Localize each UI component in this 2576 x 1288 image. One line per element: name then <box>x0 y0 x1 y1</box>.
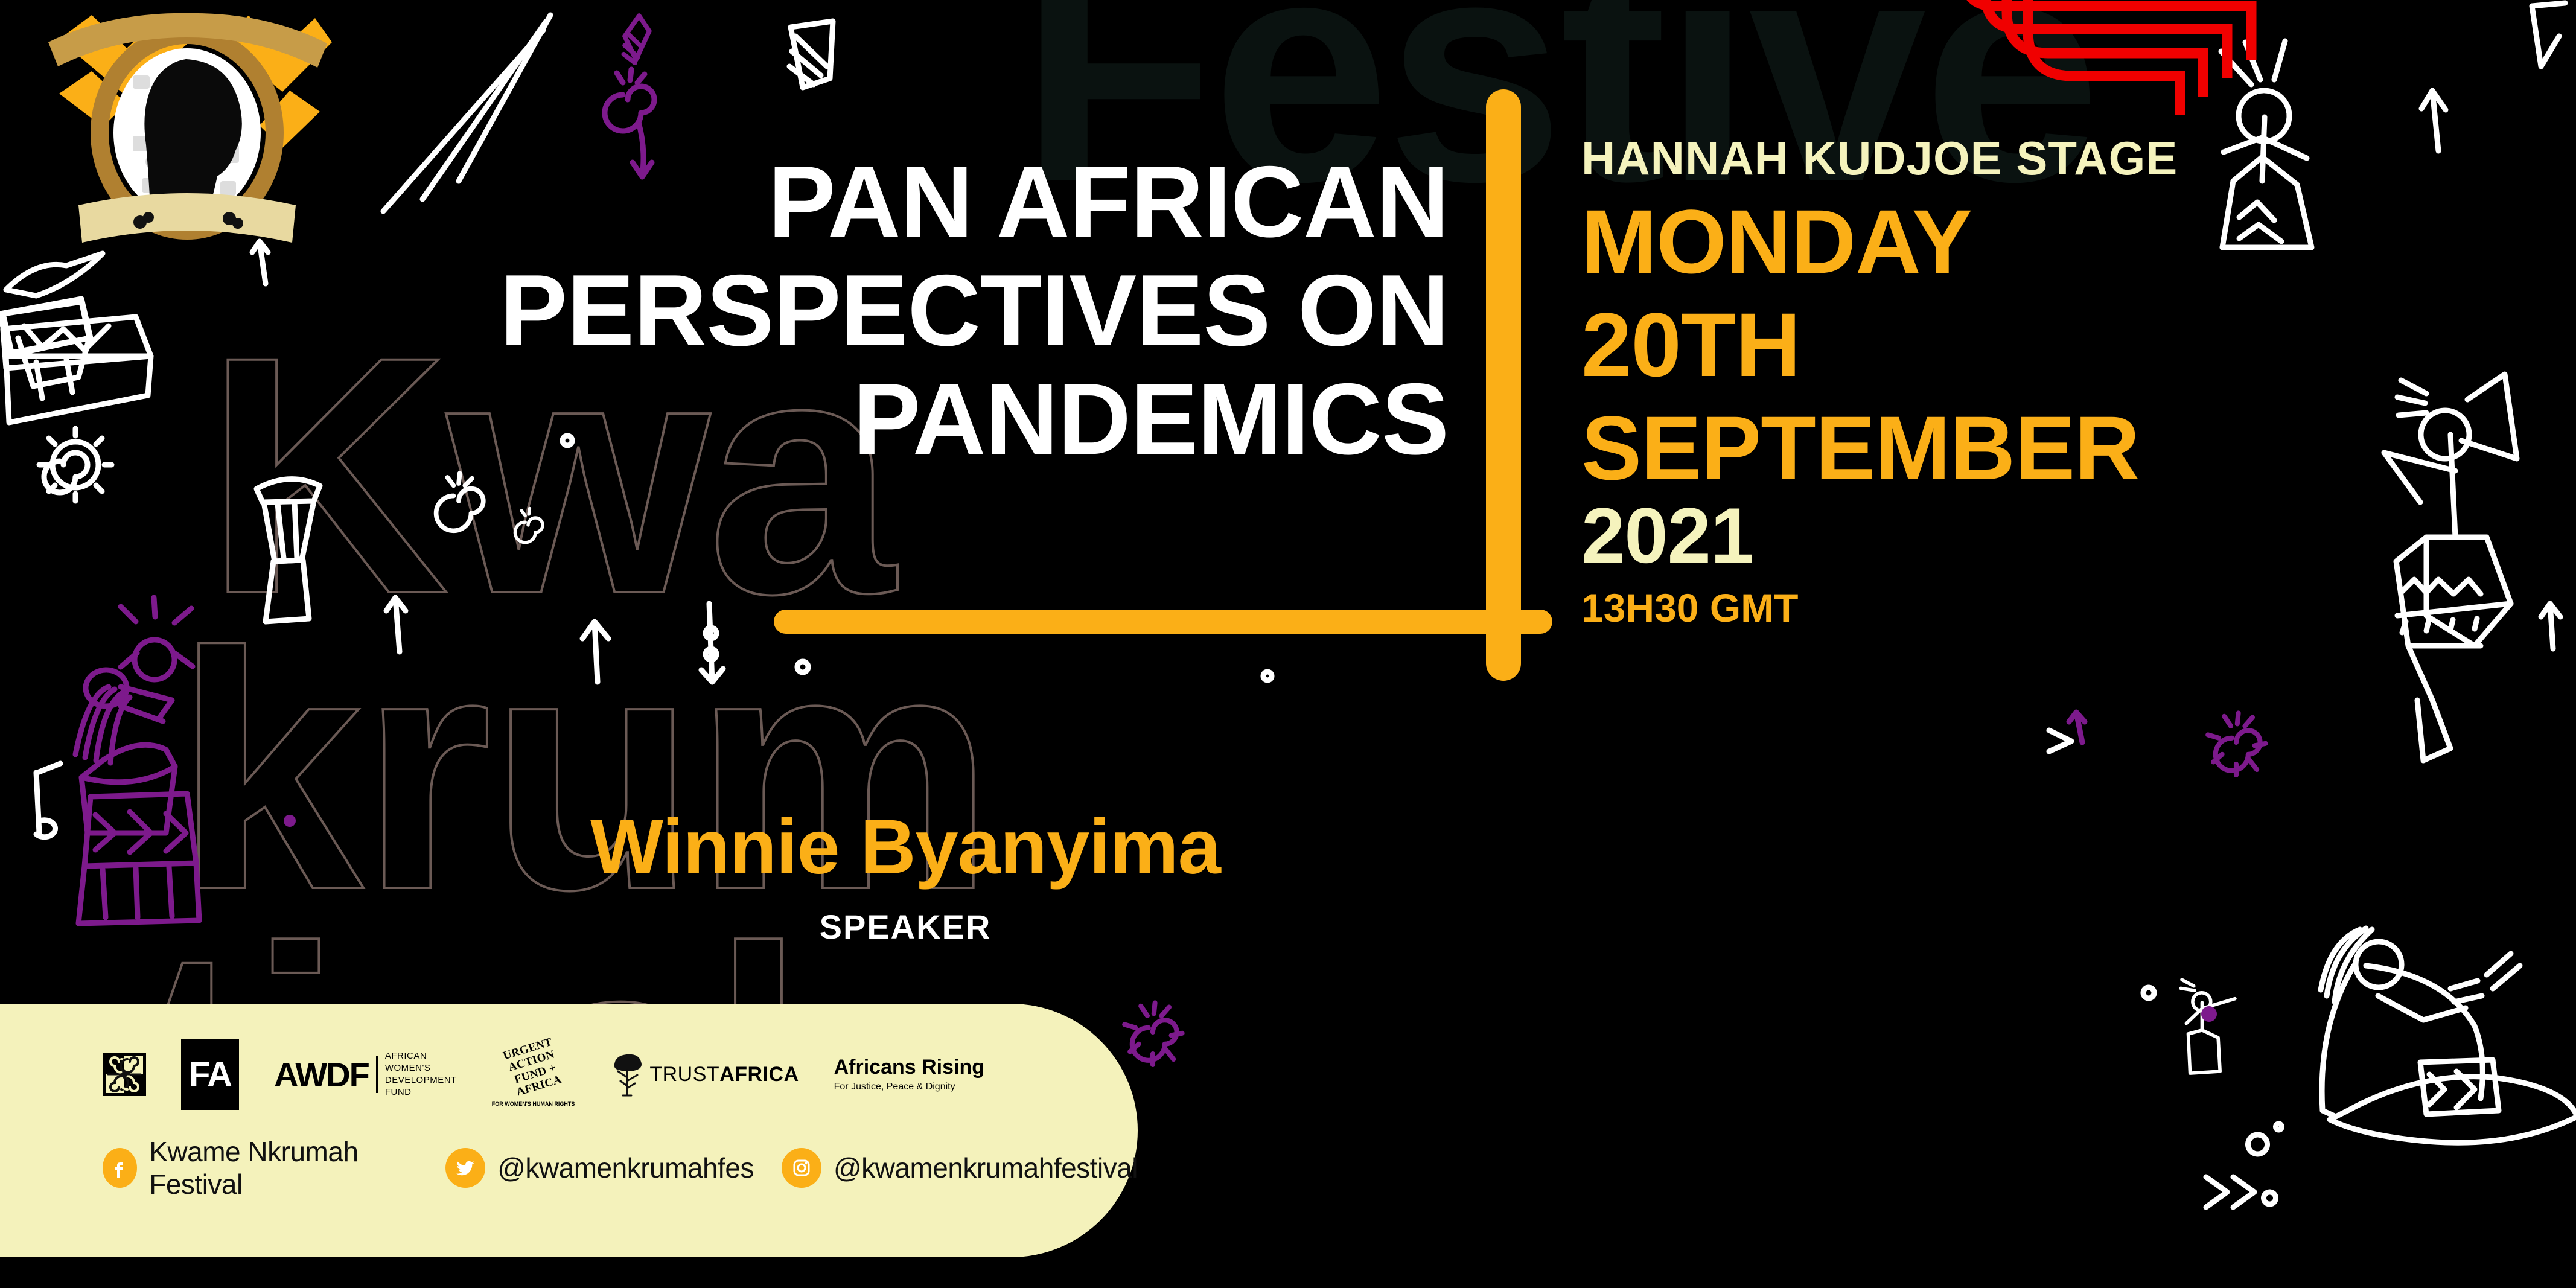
festival-crest-logo <box>36 6 338 260</box>
social-instagram[interactable]: @kwamenkrumahfestival <box>782 1148 1138 1188</box>
twitter-icon[interactable] <box>445 1148 485 1188</box>
sponsor-africans-rising: Africans Rising For Justice, Peace & Dig… <box>834 1041 984 1108</box>
title-line-1: PAN AFRICAN <box>386 148 1449 257</box>
awdf-divider <box>376 1056 378 1093</box>
footer-bar: FA AWDF AFRICAN WOMEN'S DEVELOPMENT FUND… <box>0 1004 1138 1257</box>
instagram-handle[interactable]: @kwamenkrumahfestival <box>834 1152 1138 1184</box>
event-year: 2021 <box>1581 494 2178 577</box>
sponsor-fa: FA <box>181 1041 239 1108</box>
sponsor-trustafrica: TRUSTAFRICA <box>610 1041 799 1108</box>
trust-bold: AFRICA <box>719 1063 799 1086</box>
sponsor-awdf: AWDF AFRICAN WOMEN'S DEVELOPMENT FUND <box>274 1041 457 1108</box>
speaker-role-label: SPEAKER <box>0 907 1811 946</box>
title-line-2: PERSPECTIVES ON <box>386 257 1449 365</box>
adinkra-icon <box>103 1053 146 1096</box>
twitter-handle[interactable]: @kwamenkrumahfes <box>497 1152 754 1184</box>
social-facebook[interactable]: Kwame Nkrumah Festival <box>103 1135 418 1200</box>
speaker-block: Winnie Byanyima SPEAKER <box>0 803 1811 946</box>
africans-rising-title: Africans Rising <box>834 1056 984 1079</box>
sponsor-logo-row: FA AWDF AFRICAN WOMEN'S DEVELOPMENT FUND… <box>103 1041 984 1108</box>
horizontal-divider-rule <box>774 610 1552 634</box>
speaker-name: Winnie Byanyima <box>0 803 1811 891</box>
event-date: 20TH <box>1581 299 2178 391</box>
event-time: 13H30 GMT <box>1581 585 2178 631</box>
event-poster: Festive Kwa krum tival <box>0 0 2576 1288</box>
africans-rising-tagline: For Justice, Peace & Dignity <box>834 1082 984 1092</box>
stage-name: HANNAH KUDJOE STAGE <box>1581 133 2178 185</box>
uaf-stamp-text: URGENT ACTION FUND + AFRICA <box>486 1031 580 1105</box>
page-title: PAN AFRICAN PERSPECTIVES ON PANDEMICS <box>386 148 1449 473</box>
event-day: MONDAY <box>1581 196 2178 288</box>
awdf-logo-mark: AWDF <box>274 1055 369 1094</box>
social-twitter[interactable]: @kwamenkrumahfes <box>445 1148 754 1188</box>
social-links-row: Kwame Nkrumah Festival @kwamenkrumahfes <box>103 1135 1138 1200</box>
title-line-3: PANDEMICS <box>386 365 1449 474</box>
sponsor-adinkra <box>103 1041 146 1108</box>
event-month: SEPTEMBER <box>1581 402 2178 494</box>
facebook-icon[interactable] <box>103 1148 137 1188</box>
acacia-tree-icon <box>610 1051 645 1098</box>
trustafrica-label: TRUSTAFRICA <box>649 1063 799 1086</box>
event-details: HANNAH KUDJOE STAGE MONDAY 20TH SEPTEMBE… <box>1581 133 2178 631</box>
instagram-icon[interactable] <box>782 1148 821 1188</box>
facebook-handle[interactable]: Kwame Nkrumah Festival <box>149 1135 418 1200</box>
sponsor-urgent-action-fund: URGENT ACTION FUND + AFRICA FOR WOMEN'S … <box>492 1041 575 1108</box>
vertical-divider-rule <box>1486 89 1521 681</box>
trust-light: TRUST <box>649 1063 719 1086</box>
fa-logo-label: FA <box>181 1039 239 1110</box>
awdf-logo-sub: AFRICAN WOMEN'S DEVELOPMENT FUND <box>385 1050 457 1098</box>
